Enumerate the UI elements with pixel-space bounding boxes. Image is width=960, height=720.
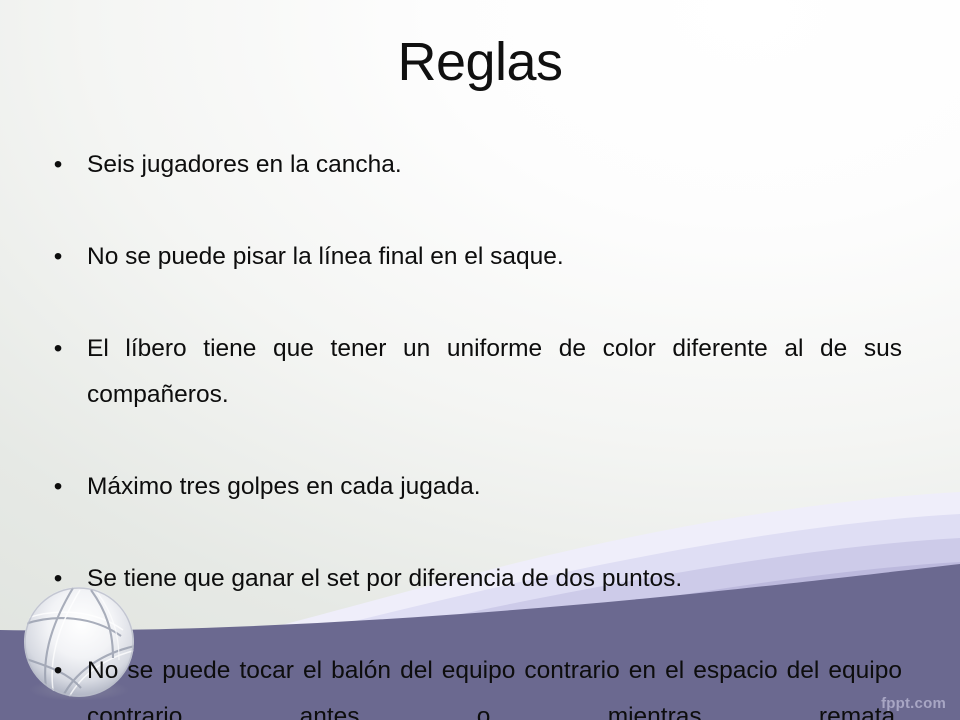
bullet-icon: •	[52, 326, 64, 372]
list-item-text: Se tiene que ganar el set por diferencia…	[87, 556, 902, 648]
list-item-text: Seis jugadores en la cancha.	[87, 142, 902, 234]
bullet-icon: •	[52, 464, 64, 510]
list-item: • No se puede pisar la línea final en el…	[40, 234, 902, 326]
page-title: Reglas	[0, 33, 960, 92]
bullet-icon: •	[52, 142, 64, 188]
slide-canvas: Reglas • Seis jugadores en la cancha. • …	[0, 0, 960, 720]
bullet-icon: •	[52, 234, 64, 280]
list-item-text: No se puede pisar la línea final en el s…	[87, 234, 902, 326]
rules-list: • Seis jugadores en la cancha. • No se p…	[40, 142, 902, 720]
watermark: fppt.com	[881, 695, 946, 712]
bullet-icon: •	[52, 556, 64, 602]
list-item-text: No se puede tocar el balón del equipo co…	[87, 648, 902, 720]
list-item: • Seis jugadores en la cancha.	[40, 142, 902, 234]
list-item: • El líbero tiene que tener un uniforme …	[40, 326, 902, 464]
list-item-text: Máximo tres golpes en cada jugada.	[87, 464, 902, 556]
list-item: • No se puede tocar el balón del equipo …	[40, 648, 902, 720]
list-item: • Máximo tres golpes en cada jugada.	[40, 464, 902, 556]
list-item-text: El líbero tiene que tener un uniforme de…	[87, 326, 902, 464]
bullet-icon: •	[52, 648, 64, 694]
list-item: • Se tiene que ganar el set por diferenc…	[40, 556, 902, 648]
